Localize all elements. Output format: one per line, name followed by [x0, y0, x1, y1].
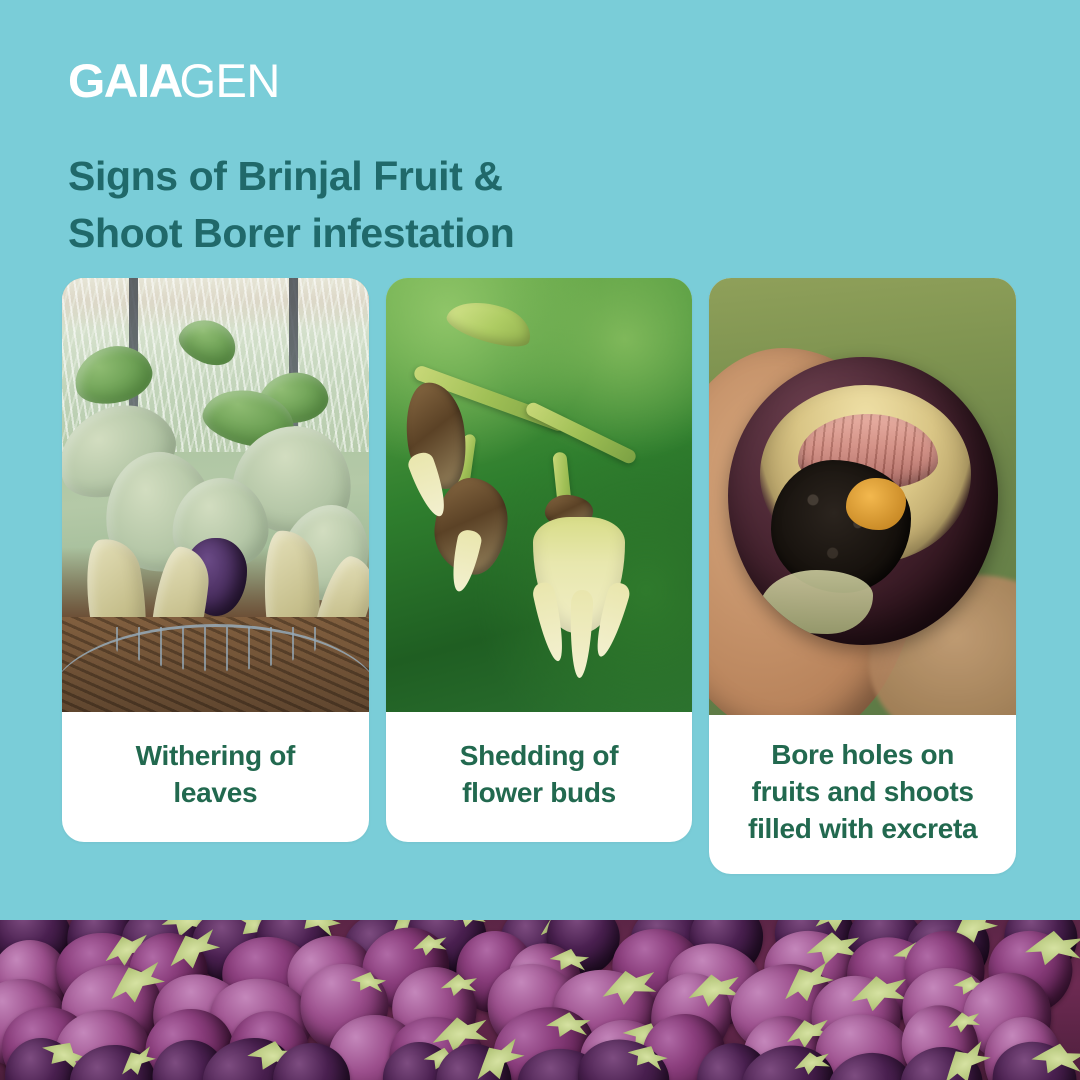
card-caption-bore-holes: Bore holes on fruits and shoots filled w… — [709, 715, 1016, 874]
flower-bud-shape — [443, 292, 537, 355]
fruit-flesh-shape — [760, 570, 873, 633]
page-title: Signs of Brinjal Fruit & Shoot Borer inf… — [68, 148, 708, 261]
garden-wire-fence — [62, 624, 369, 699]
brinjal-fruit-shape — [728, 357, 998, 645]
shedding-flower-buds-image — [386, 278, 693, 712]
withering-leaves-image — [62, 278, 369, 712]
signs-card-row: Withering of leaves — [62, 278, 1016, 874]
card-caption-withering-leaves: Withering of leaves — [62, 712, 369, 842]
sign-card-shedding-flower-buds: Shedding of flower buds — [386, 278, 693, 842]
brand-logo: GAIAGEN — [68, 57, 280, 104]
card-photo-bore-holes — [709, 278, 1016, 715]
brinjal-pile-layer — [0, 920, 1080, 1080]
brand-logo-gen: GEN — [180, 57, 280, 104]
sign-card-withering-leaves: Withering of leaves — [62, 278, 369, 842]
infographic-poster: GAIAGEN Signs of Brinjal Fruit & Shoot B… — [0, 0, 1080, 1080]
sign-card-bore-holes: Bore holes on fruits and shoots filled w… — [709, 278, 1016, 874]
card-photo-shedding-flower-buds — [386, 278, 693, 712]
petal-shape — [568, 590, 593, 679]
bottom-brinjal-banner — [0, 920, 1080, 1080]
card-photo-withering-leaves — [62, 278, 369, 712]
fruit-pulp-shape — [846, 478, 905, 530]
brand-logo-gaia: GAIA — [68, 57, 182, 104]
bore-holes-image — [709, 278, 1016, 715]
card-caption-shedding-flower-buds: Shedding of flower buds — [386, 712, 693, 842]
stem-shape — [524, 400, 638, 465]
